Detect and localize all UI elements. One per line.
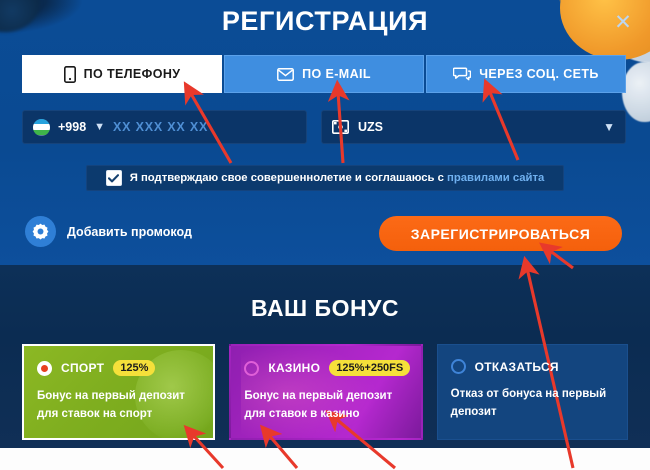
dial-code-label: +998 bbox=[58, 120, 86, 134]
banknote-icon bbox=[332, 120, 349, 134]
bonus-badge: 125% bbox=[113, 360, 155, 376]
bonus-title: ВАШ БОНУС bbox=[0, 295, 650, 322]
bonus-card-header: КАЗИНО 125%+250FS bbox=[244, 360, 407, 376]
phone-input[interactable]: XX XXX XX XX bbox=[113, 120, 208, 134]
tab-by-email[interactable]: ПО E-MAIL bbox=[224, 55, 424, 93]
currency-select[interactable]: UZS ▼ bbox=[321, 110, 626, 144]
site-rules-link[interactable]: правилами сайта bbox=[447, 172, 544, 184]
phone-icon bbox=[64, 66, 76, 83]
agreement-label: Я подтверждаю свое совершеннолетие и сог… bbox=[130, 172, 545, 184]
phone-input-group[interactable]: +998 ▼ XX XXX XX XX bbox=[22, 110, 307, 144]
tab-label: ПО E-MAIL bbox=[302, 67, 371, 81]
bonus-card-name: КАЗИНО bbox=[268, 361, 320, 375]
register-button[interactable]: ЗАРЕГИСТРИРОВАТЬСЯ bbox=[379, 216, 622, 251]
bonus-card-description: Бонус на первый депозит для ставок на сп… bbox=[37, 388, 200, 424]
close-icon[interactable]: ✕ bbox=[612, 12, 634, 34]
agreement-text: Я подтверждаю свое совершеннолетие и сог… bbox=[130, 172, 447, 184]
tab-label: ПО ТЕЛЕФОНУ bbox=[84, 67, 181, 81]
gear-icon bbox=[25, 216, 56, 247]
promocode-label: Добавить промокод bbox=[67, 225, 192, 239]
bonus-card-casino[interactable]: КАЗИНО 125%+250FS Бонус на первый депози… bbox=[229, 344, 422, 440]
radio-unselected-icon[interactable] bbox=[244, 361, 259, 376]
add-promocode-button[interactable]: Добавить промокод bbox=[25, 216, 192, 247]
tab-social-network[interactable]: ЧЕРЕЗ СОЦ. СЕТЬ bbox=[426, 55, 626, 93]
decorative-white-shape bbox=[622, 62, 650, 122]
uzbekistan-flag-icon bbox=[33, 119, 50, 136]
currency-value: UZS bbox=[358, 120, 383, 134]
registration-method-tabs: ПО ТЕЛЕФОНУ ПО E-MAIL ЧЕРЕЗ СОЦ. СЕТЬ bbox=[22, 55, 626, 93]
form-fields-row: +998 ▼ XX XXX XX XX UZS ▼ bbox=[22, 110, 626, 144]
bonus-card-name: СПОРТ bbox=[61, 361, 104, 375]
tab-label: ЧЕРЕЗ СОЦ. СЕТЬ bbox=[479, 67, 599, 81]
bonus-cards: СПОРТ 125% Бонус на первый депозит для с… bbox=[22, 344, 628, 440]
radio-selected-icon[interactable] bbox=[37, 361, 52, 376]
bonus-card-header: ОТКАЗАТЬСЯ bbox=[451, 359, 614, 374]
chevron-down-icon[interactable]: ▼ bbox=[603, 120, 615, 134]
chat-bubble-icon bbox=[453, 67, 471, 82]
bonus-card-name: ОТКАЗАТЬСЯ bbox=[475, 360, 559, 374]
bonus-badge: 125%+250FS bbox=[329, 360, 410, 376]
envelope-icon bbox=[277, 68, 294, 81]
bonus-card-decline[interactable]: ОТКАЗАТЬСЯ Отказ от бонуса на первый деп… bbox=[437, 344, 628, 440]
bonus-card-description: Бонус на первый депозит для ставок в каз… bbox=[244, 388, 407, 424]
bonus-card-header: СПОРТ 125% bbox=[37, 360, 200, 376]
bonus-card-sport[interactable]: СПОРТ 125% Бонус на первый депозит для с… bbox=[22, 344, 215, 440]
page-title: РЕГИСТРАЦИЯ bbox=[0, 6, 650, 37]
radio-unselected-icon[interactable] bbox=[451, 359, 466, 374]
bonus-card-description: Отказ от бонуса на первый депозит bbox=[451, 386, 614, 422]
chevron-down-icon[interactable]: ▼ bbox=[94, 122, 105, 133]
age-agreement-row[interactable]: Я подтверждаю свое совершеннолетие и сог… bbox=[86, 165, 564, 191]
footer-strip bbox=[0, 448, 650, 470]
agreement-checkbox[interactable] bbox=[106, 170, 122, 186]
tab-by-phone[interactable]: ПО ТЕЛЕФОНУ bbox=[22, 55, 222, 93]
registration-dialog: РЕГИСТРАЦИЯ ✕ ПО ТЕЛЕФОНУ ПО E-MAIL bbox=[0, 0, 650, 470]
